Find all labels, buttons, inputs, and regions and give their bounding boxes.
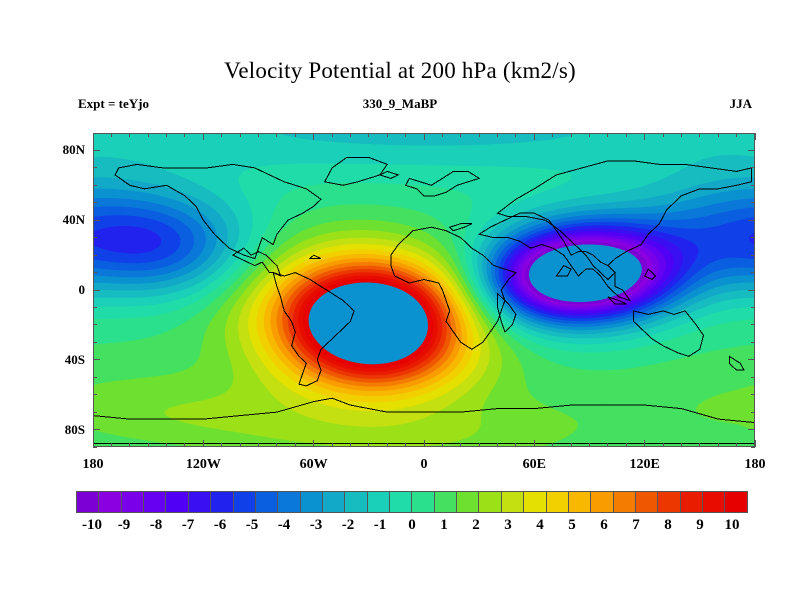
x-axis-tick (681, 443, 682, 447)
y-axis-tick (751, 377, 755, 378)
y-axis-tick-label: 40S (45, 352, 85, 368)
x-axis-tick-label: 120E (615, 457, 675, 473)
y-axis-tick (93, 447, 97, 448)
colorbar-swatch (523, 492, 545, 512)
x-axis-tick-label: 180 (63, 457, 123, 473)
y-axis-tick (93, 359, 100, 360)
x-axis-tick (644, 133, 645, 140)
colorbar-swatch (77, 492, 98, 512)
x-axis-tick (240, 133, 241, 137)
x-axis-tick (129, 443, 130, 447)
x-axis-tick (313, 440, 314, 447)
x-axis-tick (111, 443, 112, 447)
colorbar-swatch (143, 492, 165, 512)
x-axis-tick (295, 133, 296, 137)
x-axis-tick (607, 443, 608, 447)
y-axis-tick (93, 394, 97, 395)
x-axis-tick (129, 133, 130, 137)
x-axis-tick (387, 443, 388, 447)
y-axis-tick (93, 412, 97, 413)
x-axis-tick (93, 133, 94, 140)
colorbar-swatch (501, 492, 523, 512)
y-axis-tick (748, 359, 755, 360)
x-axis-tick (295, 443, 296, 447)
x-axis-tick (755, 440, 756, 447)
x-axis-tick (626, 443, 627, 447)
y-axis-tick (93, 307, 97, 308)
x-axis-tick (589, 443, 590, 447)
y-axis-tick (751, 255, 755, 256)
y-axis-tick-label: 40N (45, 212, 85, 228)
x-axis-tick (460, 443, 461, 447)
colorbar-swatch (165, 492, 187, 512)
x-axis-tick (552, 133, 553, 137)
x-axis-tick (203, 133, 204, 140)
x-axis-tick (479, 133, 480, 137)
x-axis-tick (405, 133, 406, 137)
colorbar-swatch (121, 492, 143, 512)
colorbar-swatch (434, 492, 456, 512)
colorbar-swatch (702, 492, 724, 512)
x-axis-tick (368, 133, 369, 137)
x-axis-tick (497, 133, 498, 137)
x-axis-tick (589, 133, 590, 137)
x-axis-tick (515, 133, 516, 137)
x-axis-tick (755, 133, 756, 140)
y-axis-tick (93, 133, 97, 134)
y-axis-tick (93, 150, 100, 151)
y-axis-tick (93, 255, 97, 256)
x-axis-tick (350, 443, 351, 447)
y-axis-tick-label: 80S (45, 422, 85, 438)
x-axis-tick (203, 440, 204, 447)
x-axis-tick (148, 443, 149, 447)
y-axis-tick-label: 0 (45, 282, 85, 298)
x-axis-tick (111, 133, 112, 137)
x-axis-tick (148, 133, 149, 137)
y-axis-tick-label: 80N (45, 142, 85, 158)
contour-field-svg (93, 133, 755, 447)
x-axis-tick (644, 440, 645, 447)
x-axis-tick (221, 133, 222, 137)
x-axis-tick (184, 133, 185, 137)
x-axis-tick-label: 60E (504, 457, 564, 473)
colorbar-swatch (411, 492, 433, 512)
colorbar-swatch (233, 492, 255, 512)
y-axis-tick (751, 342, 755, 343)
colorbar-tick-label: 10 (707, 517, 757, 534)
colorbar-swatch (456, 492, 478, 512)
colorbar-swatch (277, 492, 299, 512)
season-label: JJA (0, 96, 752, 112)
y-axis-tick (748, 429, 755, 430)
x-axis-tick (442, 443, 443, 447)
y-axis-tick (93, 342, 97, 343)
colorbar-swatch (568, 492, 590, 512)
colorbar-swatch (657, 492, 679, 512)
y-axis-tick (751, 167, 755, 168)
x-axis-tick (534, 133, 535, 140)
x-axis-tick (424, 440, 425, 447)
y-axis-tick (751, 272, 755, 273)
x-axis-tick (258, 133, 259, 137)
x-axis-tick-label: 0 (394, 457, 454, 473)
colorbar-swatch (210, 492, 232, 512)
x-axis-tick-label: 60W (284, 457, 344, 473)
x-axis-tick (442, 133, 443, 137)
y-axis-tick (93, 377, 97, 378)
x-axis-tick (332, 133, 333, 137)
x-axis-tick (699, 133, 700, 137)
y-axis-tick (93, 290, 100, 291)
x-axis-tick (663, 133, 664, 137)
colorbar-swatch (188, 492, 210, 512)
colorbar-swatch (680, 492, 702, 512)
x-axis-tick (571, 443, 572, 447)
y-axis-tick (751, 202, 755, 203)
x-axis-tick (424, 133, 425, 140)
contour-map-plot (93, 133, 755, 447)
y-axis-tick (751, 412, 755, 413)
x-axis-tick (626, 133, 627, 137)
y-axis-tick (93, 220, 100, 221)
x-axis-tick (497, 443, 498, 447)
x-axis-tick (166, 133, 167, 137)
x-axis-tick (552, 443, 553, 447)
y-axis-tick (751, 324, 755, 325)
colorbar-swatch (613, 492, 635, 512)
x-axis-tick (387, 133, 388, 137)
x-axis-tick (313, 133, 314, 140)
y-axis-tick (748, 220, 755, 221)
colorbar-swatch (478, 492, 500, 512)
y-axis-tick (748, 290, 755, 291)
x-axis-tick (736, 443, 737, 447)
figure-canvas: Velocity Potential at 200 hPa (km2/s) Ex… (0, 0, 800, 600)
y-axis-tick (748, 150, 755, 151)
y-axis-tick (93, 429, 100, 430)
x-axis-tick-label: 180 (725, 457, 785, 473)
x-axis-tick (405, 443, 406, 447)
x-axis-tick (276, 133, 277, 137)
colorbar-swatch (367, 492, 389, 512)
x-axis-tick (718, 133, 719, 137)
y-axis-tick (751, 394, 755, 395)
colorbar-swatch (300, 492, 322, 512)
colorbar-swatch (255, 492, 277, 512)
x-axis-tick (368, 443, 369, 447)
y-axis-tick (751, 307, 755, 308)
x-axis-tick (460, 133, 461, 137)
colorbar-swatch (344, 492, 366, 512)
colorbar-swatch (590, 492, 612, 512)
scalar-field-layer (93, 133, 755, 447)
x-axis-tick (332, 443, 333, 447)
colorbar-swatch (98, 492, 120, 512)
x-axis-tick (515, 443, 516, 447)
x-axis-tick (240, 443, 241, 447)
x-axis-tick (534, 440, 535, 447)
x-axis-tick (479, 443, 480, 447)
colorbar-swatch (546, 492, 568, 512)
colorbar-swatch (322, 492, 344, 512)
x-axis-tick (718, 443, 719, 447)
y-axis-tick (93, 202, 97, 203)
x-axis-tick (699, 443, 700, 447)
y-axis-tick (751, 185, 755, 186)
page-title: Velocity Potential at 200 hPa (km2/s) (0, 58, 800, 84)
x-axis-tick (166, 443, 167, 447)
y-axis-tick (93, 237, 97, 238)
colorbar-swatch (724, 492, 746, 512)
x-axis-tick (607, 133, 608, 137)
colorbar-swatch (635, 492, 657, 512)
y-axis-tick (751, 237, 755, 238)
x-axis-tick-label: 120W (173, 457, 233, 473)
x-axis-tick (350, 133, 351, 137)
x-axis-tick (93, 440, 94, 447)
x-axis-tick (258, 443, 259, 447)
x-axis-tick (681, 133, 682, 137)
colorbar (76, 491, 748, 513)
x-axis-tick (736, 133, 737, 137)
y-axis-tick (93, 272, 97, 273)
x-axis-tick (276, 443, 277, 447)
x-axis-tick (663, 443, 664, 447)
colorbar-swatch (389, 492, 411, 512)
x-axis-tick (221, 443, 222, 447)
x-axis-tick (571, 133, 572, 137)
y-axis-tick (93, 167, 97, 168)
y-axis-tick (93, 324, 97, 325)
x-axis-tick (184, 443, 185, 447)
y-axis-tick (93, 185, 97, 186)
